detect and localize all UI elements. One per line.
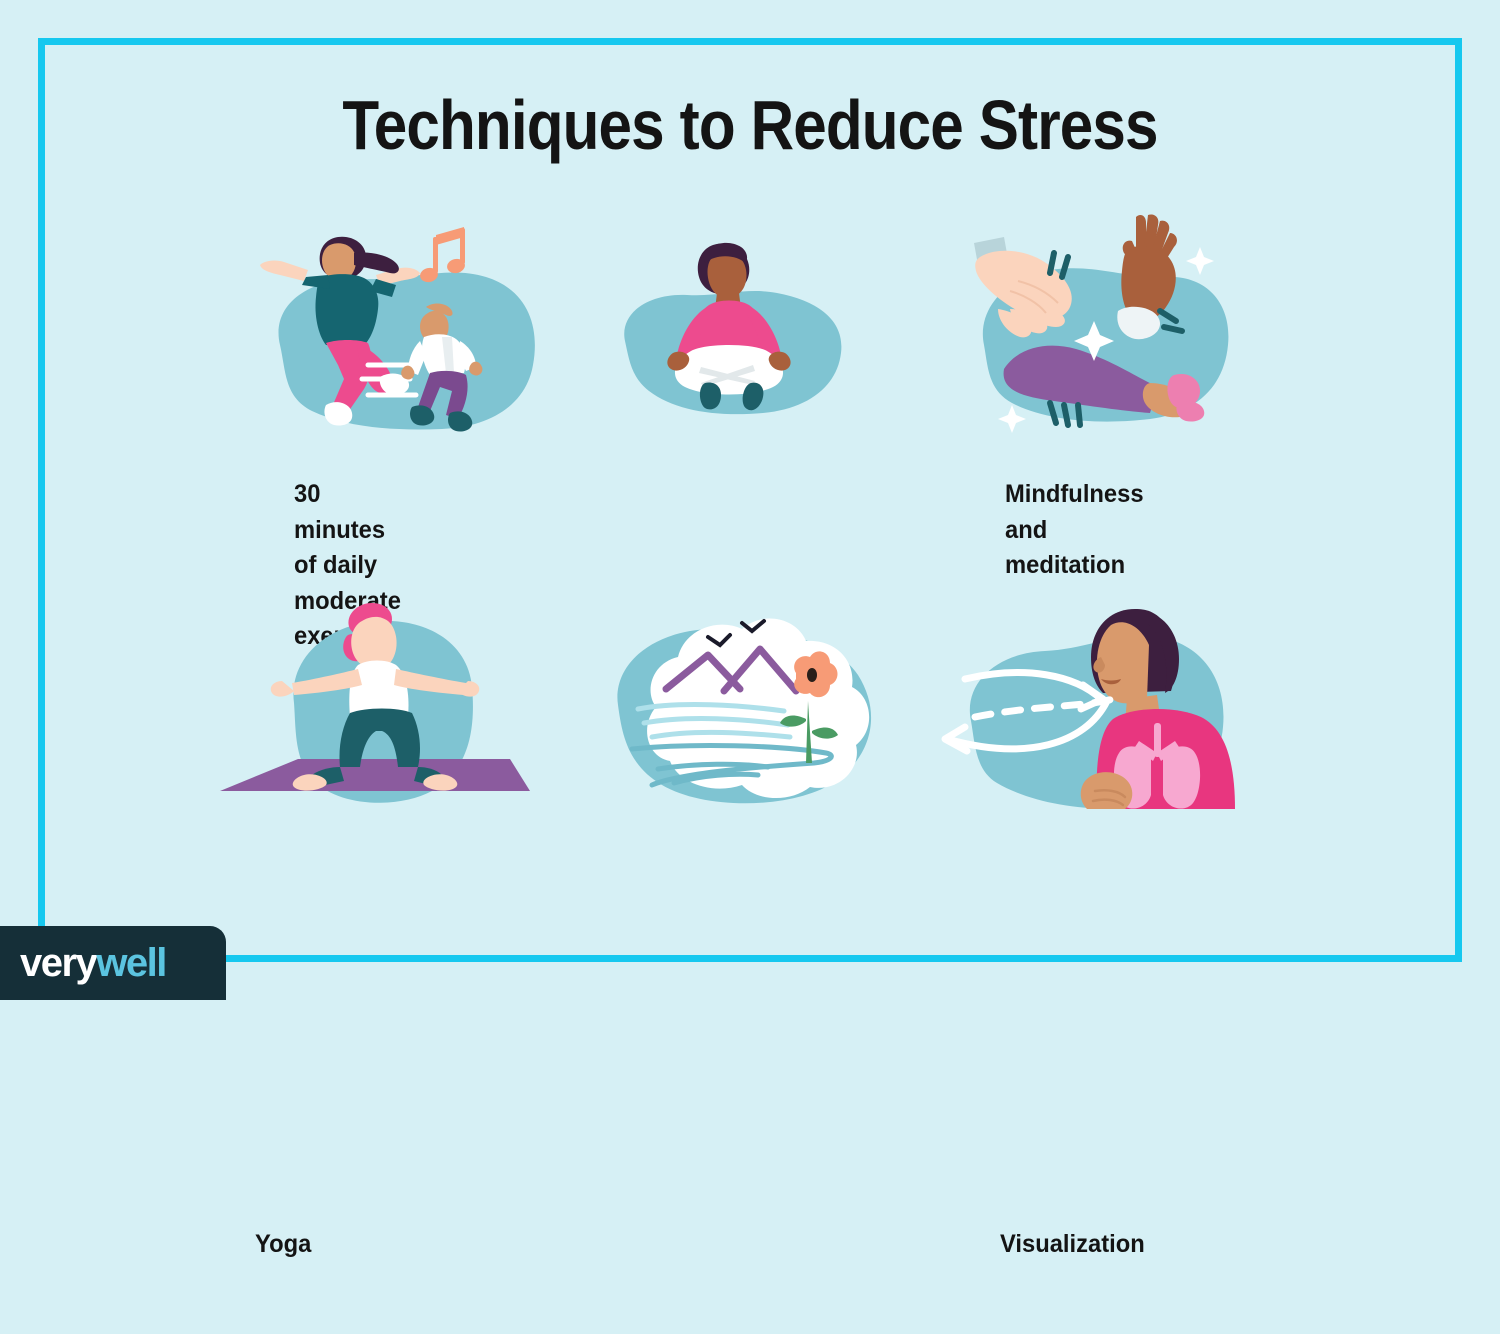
yoga-illustration [210,595,540,830]
meditation-illustration [605,215,895,455]
visualization-illustration [600,595,900,830]
caption-yoga: Yoga [255,1227,311,1263]
logo-very: very [20,941,96,985]
caption-visualization: Visualization [1000,1227,1145,1263]
caption-mindfulness: Mindfulness and meditation [1005,477,1144,584]
logo-well: well [96,941,166,985]
infographic-page: Techniques to Reduce Stress [0,0,1500,1000]
exercise-illustration [250,215,550,455]
page-title: Techniques to Reduce Stress [105,85,1395,165]
verywell-logo[interactable]: verywell [0,926,226,1000]
yoga-mat [220,759,530,791]
progressive-muscle-relaxation-illustration [950,215,1250,455]
slow-deep-breaths-illustration [935,595,1255,830]
techniques-grid: 30 minutes of daily moderate exercise [210,215,1280,915]
logo-text: verywell [20,943,166,983]
